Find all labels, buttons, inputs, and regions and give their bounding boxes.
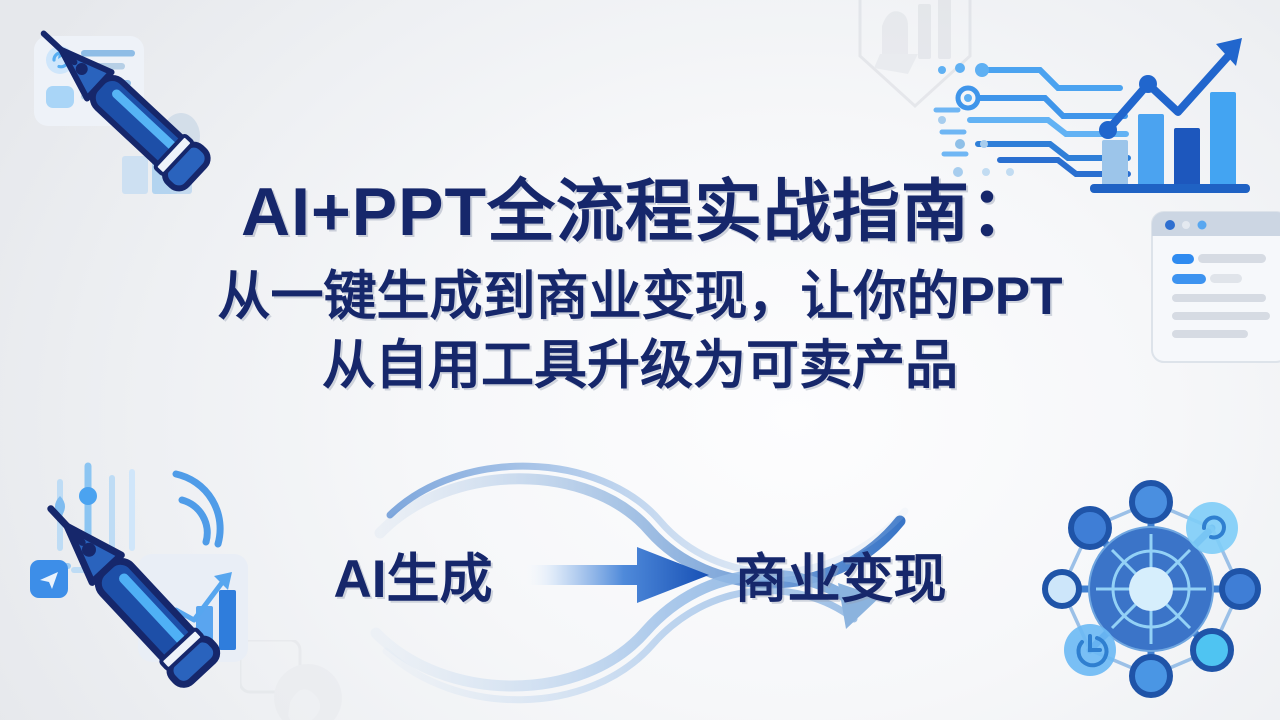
flow-label-left: AI生成 [334,537,493,613]
poster-canvas: AI+PPT全流程实战指南： 从一键生成到商业变现，让你的PPT 从自用工具升级… [0,0,1280,720]
title-block: AI+PPT全流程实战指南： 从一键生成到商业变现，让你的PPT 从自用工具升级… [0,176,1280,401]
subtitle-line-2: 从自用工具升级为可卖产品 [0,332,1280,401]
page-title: AI+PPT全流程实战指南： [0,176,1280,249]
subtitle-line-1: 从一键生成到商业变现，让你的PPT [217,267,1062,326]
page-subtitle: 从一键生成到商业变现，让你的PPT 从自用工具升级为可卖产品 [0,263,1280,401]
flow-banner: AI生成 商业变现 [0,520,1280,630]
flow-label-right: 商业变现 [735,537,947,613]
right-arrow-gradient-icon [519,545,709,605]
